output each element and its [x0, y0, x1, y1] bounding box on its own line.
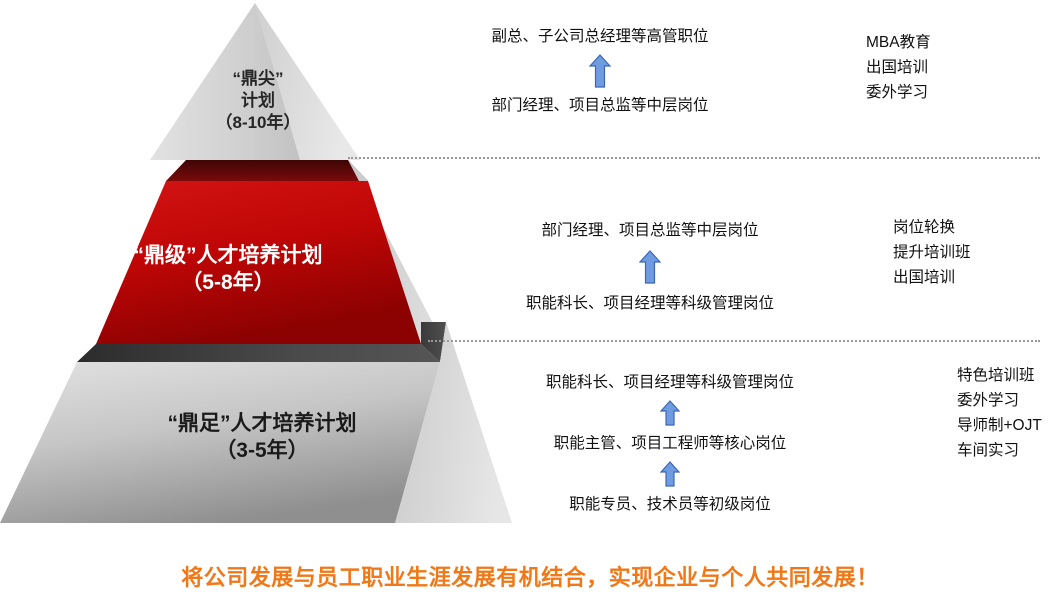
method-line: 特色培训班: [957, 363, 1060, 388]
method-line: 车间实习: [957, 438, 1060, 463]
tier-middle-top-face: [166, 160, 368, 181]
spacer: [470, 391, 870, 400]
up-arrow-icon: [660, 461, 680, 487]
arrow-row: [470, 400, 870, 426]
method-line: 出国培训: [866, 55, 1046, 80]
separator-line-top: [348, 157, 1040, 159]
method-line: 岗位轮换: [893, 215, 1060, 240]
method-line: MBA教育: [866, 30, 1046, 55]
tier-bottom-front-face: [0, 362, 440, 523]
methods-column-middle: 岗位轮换 提升培训班 出国培训: [893, 215, 1060, 290]
pyramid-tier-top: [150, 3, 360, 160]
spacer: [450, 239, 850, 250]
methods-column-top: MBA教育 出国培训 委外学习: [866, 30, 1046, 105]
arrow-row: [450, 250, 850, 284]
method-line: 委外学习: [957, 388, 1060, 413]
pyramid-tier-middle: [77, 160, 448, 362]
role-line: 职能科长、项目经理等科级管理岗位: [450, 295, 850, 312]
methods-column-bottom: 特色培训班 委外学习 导师制+OJT 车间实习: [957, 363, 1060, 463]
arrow-row: [400, 54, 800, 88]
tier-middle-base-band: [77, 344, 440, 362]
roles-column-middle: 部门经理、项目总监等中层岗位 职能科长、项目经理等科级管理岗位: [450, 222, 850, 312]
method-line: 委外学习: [866, 80, 1046, 105]
tier-middle-front-face: [96, 181, 421, 344]
up-arrow-icon: [589, 54, 611, 88]
spacer: [470, 426, 870, 435]
method-line: 提升培训班: [893, 240, 1060, 265]
role-line: 职能主管、项目工程师等核心岗位: [470, 435, 870, 452]
arrow-row: [470, 461, 870, 487]
method-line: 导师制+OJT: [957, 413, 1060, 438]
spacer: [450, 284, 850, 295]
spacer: [470, 487, 870, 496]
roles-column-top: 副总、子公司总经理等高管职位 部门经理、项目总监等中层岗位: [400, 28, 800, 114]
spacer: [400, 88, 800, 97]
method-line: 出国培训: [893, 265, 1060, 290]
role-line: 职能科长、项目经理等科级管理岗位: [470, 374, 870, 391]
bottom-caption: 将公司发展与员工职业生涯发展有机结合，实现企业与个人共同发展！: [0, 560, 1060, 592]
separator-line-middle: [428, 340, 1040, 342]
role-line: 部门经理、项目总监等中层岗位: [450, 222, 850, 239]
roles-column-bottom: 职能科长、项目经理等科级管理岗位 职能主管、项目工程师等核心岗位 职能专员、技术…: [470, 374, 870, 513]
up-arrow-icon: [660, 400, 680, 426]
spacer: [470, 452, 870, 461]
role-line: 职能专员、技术员等初级岗位: [470, 496, 870, 513]
up-arrow-icon: [639, 250, 661, 284]
spacer: [400, 45, 800, 54]
role-line: 副总、子公司总经理等高管职位: [400, 28, 800, 45]
role-line: 部门经理、项目总监等中层岗位: [400, 97, 800, 114]
